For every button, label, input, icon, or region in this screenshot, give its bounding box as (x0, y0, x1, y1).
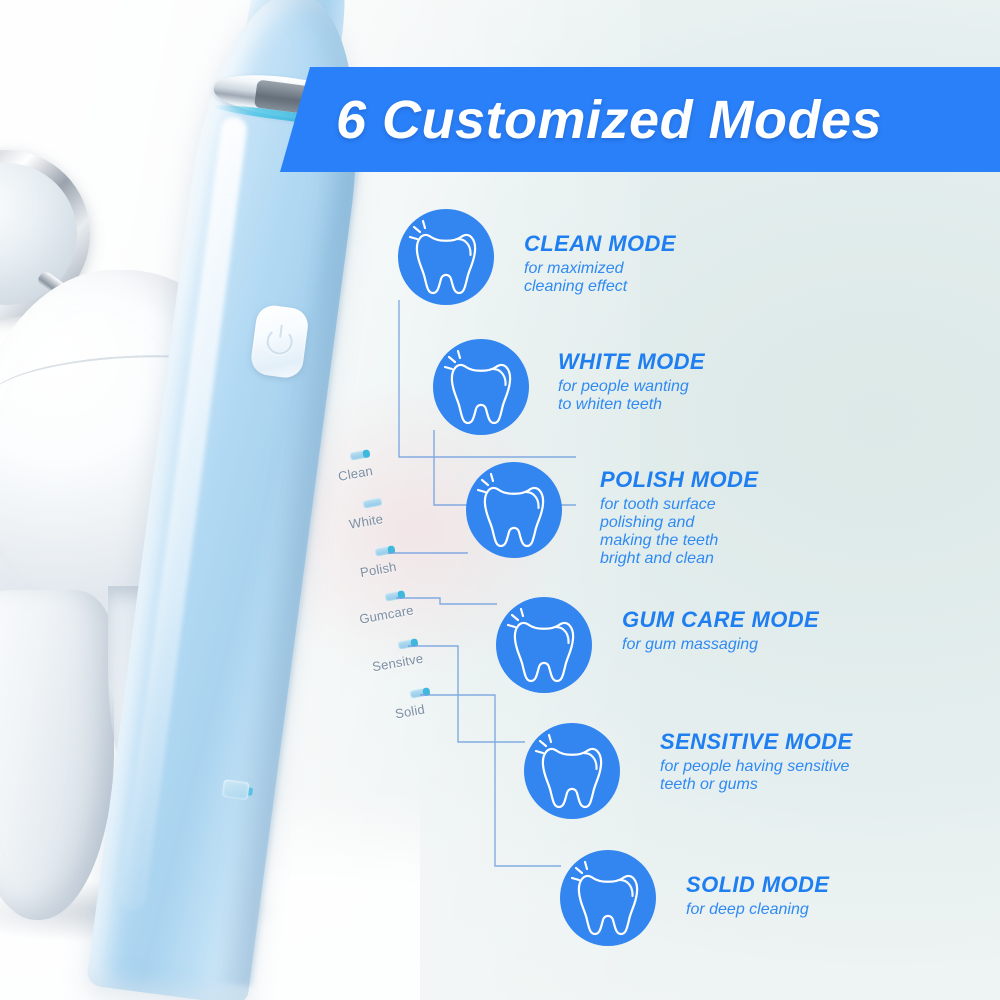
mode-title-sensitive: SENSITIVE MODE (660, 730, 853, 754)
mode-title-clean: CLEAN MODE (524, 232, 676, 256)
mode-text-polish: POLISH MODEfor tooth surface polishing a… (600, 468, 758, 568)
mode-desc-clean: for maximized cleaning effect (524, 260, 676, 296)
mode-desc-polish: for tooth surface polishing and making t… (600, 496, 758, 568)
mode-desc-gum-care: for gum massaging (622, 636, 819, 654)
mode-desc-white: for people wanting to whiten teeth (558, 378, 705, 414)
mode-title-white: WHITE MODE (558, 350, 705, 374)
tooth-icon[interactable] (398, 209, 494, 305)
mode-text-sensitive: SENSITIVE MODEfor people having sensitiv… (660, 730, 853, 794)
mode-desc-solid: for deep cleaning (686, 901, 829, 919)
mode-text-white: WHITE MODEfor people wanting to whiten t… (558, 350, 705, 414)
power-button[interactable] (249, 304, 310, 380)
mode-text-clean: CLEAN MODEfor maximized cleaning effect (524, 232, 676, 296)
mode-desc-sensitive: for people having sensitive teeth or gum… (660, 758, 853, 794)
infographic-canvas: CleanWhitePolishGumcareSensitveSolid 6 C… (0, 0, 1000, 1000)
mode-text-solid: SOLID MODEfor deep cleaning (686, 873, 829, 919)
tooth-icon[interactable] (496, 597, 592, 693)
mode-title-solid: SOLID MODE (686, 873, 829, 897)
power-icon (265, 327, 294, 356)
tooth-icon[interactable] (433, 339, 529, 435)
page-title: 6 Customized Modes (336, 72, 1000, 168)
tooth-icon[interactable] (466, 462, 562, 558)
mode-text-gum-care: GUM CARE MODEfor gum massaging (622, 608, 819, 654)
battery-icon (222, 779, 250, 800)
mode-title-gum-care: GUM CARE MODE (622, 608, 819, 632)
tooth-icon[interactable] (524, 723, 620, 819)
mode-title-polish: POLISH MODE (600, 468, 758, 492)
tooth-icon[interactable] (560, 850, 656, 946)
